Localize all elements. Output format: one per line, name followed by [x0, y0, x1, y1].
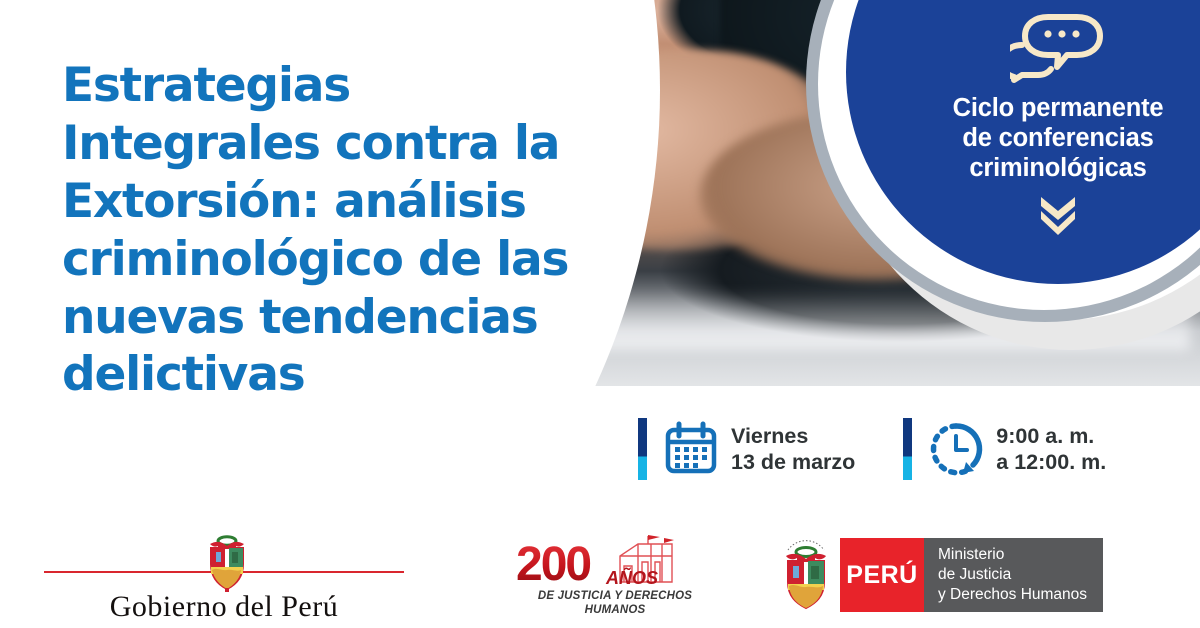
- ministerio-line-3: y Derechos Humanos: [938, 585, 1087, 605]
- ministerio-line-1: Ministerio: [938, 545, 1087, 565]
- clock-icon: [928, 421, 984, 477]
- gobierno-del-peru-logo: Gobierno del Perú: [44, 528, 404, 620]
- conference-poster: Ciclo permanente de conferencias crimino…: [0, 0, 1200, 628]
- badge-text: Ciclo permanente de conferencias crimino…: [908, 94, 1200, 183]
- peru-label: PERÚ: [846, 561, 917, 590]
- peru-badge: PERÚ: [840, 538, 924, 612]
- title-line-5: nuevas tendencias: [62, 289, 702, 347]
- bicentenario-logo: 200 AÑOS DE JUSTICIA Y DERECHOS HUMANOS: [512, 532, 718, 620]
- svg-text:200: 200: [516, 538, 590, 591]
- title-line-6: delictivas: [62, 346, 702, 404]
- title-line-4: criminológico de las: [62, 231, 702, 289]
- title-line-2: Integrales contra la: [62, 115, 702, 173]
- accent-bar: [638, 418, 647, 480]
- peru-coat-of-arms-icon: [207, 534, 247, 592]
- minjus-logo: PERÚ Ministerio de Justicia y Derechos H…: [778, 538, 1103, 612]
- event-date-line-2: 13 de marzo: [731, 449, 855, 475]
- svg-text:AÑOS: AÑOS: [605, 567, 658, 588]
- ministerio-name: Ministerio de Justicia y Derechos Humano…: [924, 538, 1103, 612]
- gobierno-label: Gobierno del Perú: [44, 590, 404, 624]
- title-line-1: Estrategias: [62, 57, 702, 115]
- title-line-3: Extorsión: análisis: [62, 173, 702, 231]
- bicentenario-caption-line-1: DE JUSTICIA Y DERECHOS: [512, 590, 718, 604]
- calendar-icon: [663, 421, 719, 477]
- badge-line-1: Ciclo permanente: [908, 94, 1200, 124]
- event-time: 9:00 a. m. a 12:00. m.: [903, 418, 1106, 480]
- double-chevron-down-icon: [1035, 195, 1081, 235]
- speech-bubbles-icon: [1010, 10, 1106, 84]
- event-time-line-2: a 12:00. m.: [996, 449, 1106, 475]
- event-info-row: Viernes 13 de marzo 9:00 a. m. a 12:00. …: [638, 418, 1106, 480]
- event-date-line-1: Viernes: [731, 423, 855, 449]
- conference-badge: Ciclo permanente de conferencias crimino…: [846, 0, 1200, 284]
- ministerio-name-text: Ministerio de Justicia y Derechos Humano…: [938, 545, 1087, 604]
- poster-title: Estrategias Integrales contra la Extorsi…: [62, 57, 702, 404]
- badge-line-3: criminológicas: [908, 154, 1200, 184]
- peru-coat-of-arms-icon: [778, 538, 834, 612]
- bicentenario-caption: DE JUSTICIA Y DERECHOS HUMANOS: [512, 590, 718, 617]
- bicentenario-caption-line-2: HUMANOS: [512, 604, 718, 618]
- ministerio-line-2: de Justicia: [938, 565, 1087, 585]
- event-time-text: 9:00 a. m. a 12:00. m.: [996, 423, 1106, 475]
- event-time-line-1: 9:00 a. m.: [996, 423, 1106, 449]
- badge-line-2: de conferencias: [908, 124, 1200, 154]
- event-date: Viernes 13 de marzo: [638, 418, 855, 480]
- 200-anos-icon: 200 AÑOS: [512, 532, 718, 594]
- event-date-text: Viernes 13 de marzo: [731, 423, 855, 475]
- accent-bar: [903, 418, 912, 480]
